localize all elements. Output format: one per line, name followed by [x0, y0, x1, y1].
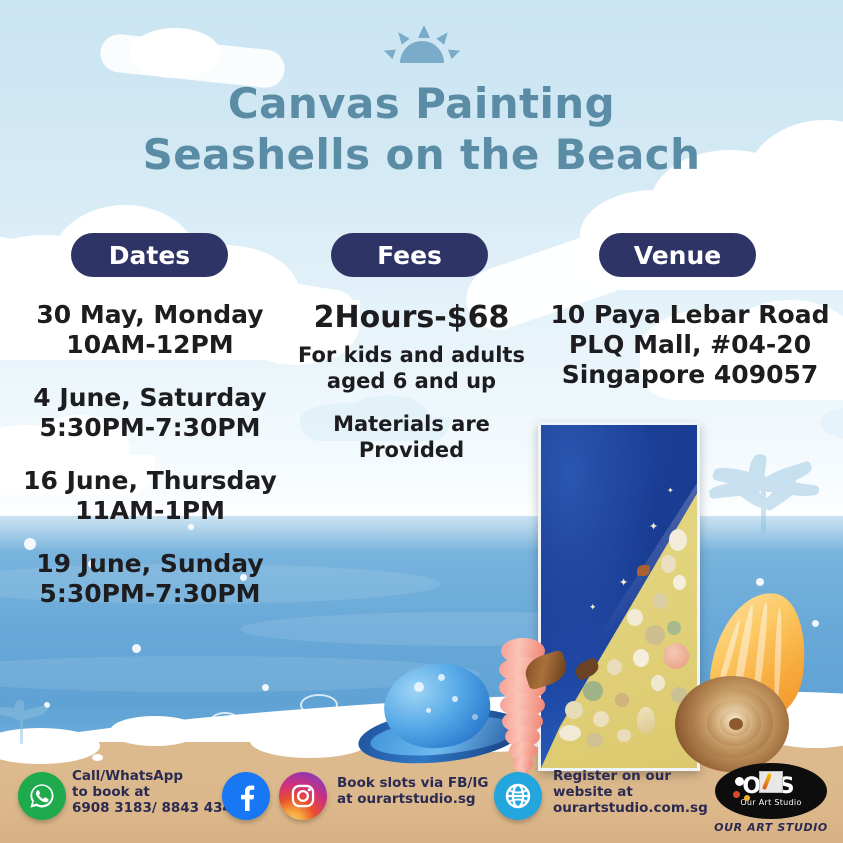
date-day: 16 June, Thursday: [0, 466, 300, 496]
poster-canvas: Canvas Painting Seashells on the Beach: [0, 0, 843, 843]
logo-dot-red: [733, 791, 740, 798]
cloud-puff-topleft: [130, 28, 220, 78]
logo-dot-yellow: [744, 795, 750, 801]
globe-icon[interactable]: [494, 772, 542, 820]
logo-dot-white: [735, 777, 744, 786]
heading-label-fees: Fees: [377, 241, 442, 270]
venue-column: 10 Paya Lebar Road PLQ Mall, #04-20 Sing…: [537, 300, 843, 390]
whatsapp-icon[interactable]: [18, 772, 66, 820]
fees-materials-line-2: Provided: [288, 437, 535, 463]
heading-label-dates: Dates: [109, 241, 190, 270]
date-time: 5:30PM-7:30PM: [0, 579, 300, 609]
facebook-icon[interactable]: [222, 772, 270, 820]
venue-line-1: 10 Paya Lebar Road: [537, 300, 843, 330]
fees-price: 2Hours-$68: [288, 300, 535, 336]
date-entry: 30 May, Monday 10AM-12PM: [0, 300, 300, 360]
logo-wordmark: OUR ART STUDIO: [707, 821, 835, 834]
fees-column: 2Hours-$68 For kids and adults aged 6 an…: [288, 300, 535, 463]
date-entry: 16 June, Thursday 11AM-1PM: [0, 466, 300, 526]
whatsapp-line-1: Call/WhatsApp: [72, 768, 252, 784]
date-day: 30 May, Monday: [0, 300, 300, 330]
fees-materials-line-1: Materials are: [288, 411, 535, 437]
fees-eligibility-line-1: For kids and adults: [288, 342, 535, 368]
section-heading-dates: Dates: [71, 233, 228, 277]
title-line-1: Canvas Painting: [0, 78, 843, 129]
palm-tree-silhouette-small: [0, 700, 54, 746]
date-time: 10AM-12PM: [0, 330, 300, 360]
our-art-studio-logo: O S Our Art Studio OUR ART STUDIO: [707, 761, 835, 843]
date-time: 11AM-1PM: [0, 496, 300, 526]
venue-line-2: PLQ Mall, #04-20: [537, 330, 843, 360]
footer-contact-bar: Call/WhatsApp to book at 6908 3183/ 8843…: [0, 755, 843, 843]
brown-cone-shell: [525, 655, 567, 689]
date-time: 5:30PM-7:30PM: [0, 413, 300, 443]
page-title: Canvas Painting Seashells on the Beach: [0, 78, 843, 180]
fees-eligibility-line-2: aged 6 and up: [288, 368, 535, 394]
title-line-2: Seashells on the Beach: [0, 129, 843, 180]
instagram-icon[interactable]: [279, 772, 327, 820]
date-day: 4 June, Saturday: [0, 383, 300, 413]
palm-tree-silhouette: [705, 452, 825, 532]
sun-icon: [384, 25, 460, 71]
heading-label-venue: Venue: [634, 241, 722, 270]
venue-line-3: Singapore 409057: [537, 360, 843, 390]
section-heading-fees: Fees: [331, 233, 488, 277]
dates-column: 30 May, Monday 10AM-12PM 4 June, Saturda…: [0, 300, 300, 609]
section-heading-venue: Venue: [599, 233, 756, 277]
date-entry: 19 June, Sunday 5:30PM-7:30PM: [0, 549, 300, 609]
date-day: 19 June, Sunday: [0, 549, 300, 579]
date-entry: 4 June, Saturday 5:30PM-7:30PM: [0, 383, 300, 443]
